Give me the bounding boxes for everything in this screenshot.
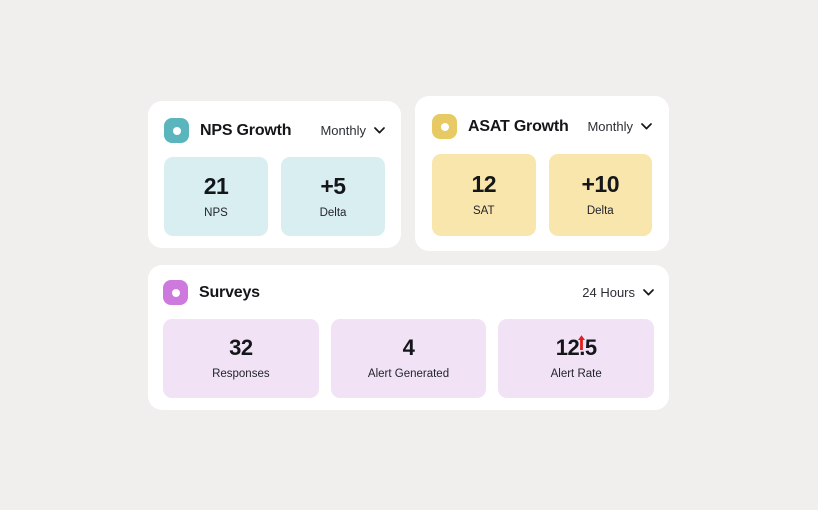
circle-dot-icon [163,280,188,305]
metric-value: 32 [229,337,252,359]
metric-value: 4 [403,337,415,359]
metric-value-suffix: 5 [585,337,597,359]
range-selector-nps[interactable]: Monthly [320,123,385,138]
metric-label: Alert Generated [368,368,449,380]
metric-label: SAT [473,205,495,217]
range-selector-label: 24 Hours [582,285,635,300]
metric-tiles-surveys: 32 Responses 4 Alert Generated 12.5 Aler… [163,319,654,398]
metric-value: 12 [471,173,496,196]
metric-value-text: 12.5 [556,337,597,359]
range-selector-asat[interactable]: Monthly [587,119,652,134]
metric-tiles-asat: 12 SAT +10 Delta [432,154,652,236]
metric-tile[interactable]: +5 Delta [281,157,385,236]
metric-label: Alert Rate [551,368,602,380]
card-nps-growth: NPS Growth Monthly 21 NPS +5 Delta [148,101,401,248]
metric-tile[interactable]: 12 SAT [432,154,536,236]
metric-label: Delta [587,205,614,217]
circle-dot-icon [432,114,457,139]
range-selector-label: Monthly [320,123,366,138]
metric-tile[interactable]: 4 Alert Generated [331,319,487,398]
metric-tile[interactable]: 12.5 Alert Rate [498,319,654,398]
metric-label: NPS [204,207,228,219]
page-title-surveys: Surveys [199,284,260,302]
chevron-down-icon [643,289,654,296]
card-header: NPS Growth Monthly [164,118,385,143]
page-title-asat: ASAT Growth [468,118,569,136]
dashboard-root: NPS Growth Monthly 21 NPS +5 Delta ASAT … [0,0,818,510]
metric-value: +5 [320,175,345,198]
metric-tile[interactable]: 32 Responses [163,319,319,398]
metric-value: 21 [204,175,229,198]
metric-tile[interactable]: 21 NPS [164,157,268,236]
metric-label: Responses [212,368,270,380]
metric-tiles-nps: 21 NPS +5 Delta [164,157,385,236]
chevron-down-icon [374,127,385,134]
metric-tile[interactable]: +10 Delta [549,154,653,236]
page-title-nps: NPS Growth [200,122,291,140]
metric-value-alert-rate: 12.5 [556,337,597,359]
metric-value: +10 [581,173,619,196]
card-header: Surveys 24 Hours [163,280,654,305]
chevron-down-icon [641,123,652,130]
card-header: ASAT Growth Monthly [432,114,652,139]
card-surveys: Surveys 24 Hours 32 Responses 4 Alert Ge… [148,265,669,410]
range-selector-label: Monthly [587,119,633,134]
range-selector-surveys[interactable]: 24 Hours [582,285,654,300]
metric-label: Delta [320,207,347,219]
circle-dot-icon [164,118,189,143]
red-up-arrow-cursor-icon [577,334,586,351]
card-asat-growth: ASAT Growth Monthly 12 SAT +10 Delta [415,96,669,251]
